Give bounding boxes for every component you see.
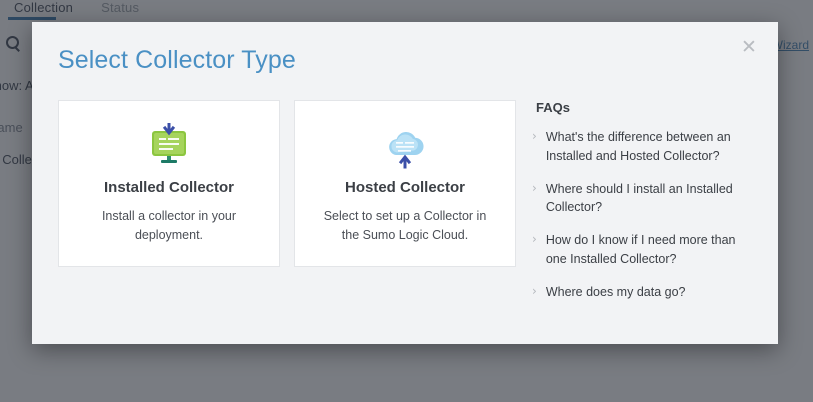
chevron-right-icon: › <box>532 128 537 166</box>
card-title: Installed Collector <box>104 179 234 196</box>
faq-item-label: Where does my data go? <box>546 283 686 302</box>
faq-item[interactable]: › Where does my data go? <box>532 283 758 302</box>
faq-item-label: How do I know if I need more than one In… <box>546 231 758 269</box>
faq-heading: FAQs <box>536 100 758 115</box>
faq-item-label: Where should I install an Installed Coll… <box>546 180 758 218</box>
faq-item[interactable]: › How do I know if I need more than one … <box>532 231 758 269</box>
card-description: Select to set up a Collector in the Sumo… <box>317 207 493 246</box>
faq-item[interactable]: › Where should I install an Installed Co… <box>532 180 758 218</box>
faq-item-label: What's the difference between an Install… <box>546 128 758 166</box>
chevron-right-icon: › <box>532 231 537 269</box>
chevron-right-icon: › <box>532 180 537 218</box>
card-hosted-collector[interactable]: Hosted Collector Select to set up a Coll… <box>294 100 516 267</box>
close-icon[interactable]: ✕ <box>736 34 762 60</box>
hosted-collector-cloud-icon <box>382 119 428 177</box>
card-description: Install a collector in your deployment. <box>81 207 257 246</box>
chevron-right-icon: › <box>532 283 537 302</box>
card-installed-collector[interactable]: Installed Collector Install a collector … <box>58 100 280 267</box>
installed-collector-monitor-icon <box>146 119 192 177</box>
faq-item[interactable]: › What's the difference between an Insta… <box>532 128 758 166</box>
dialog-title: Select Collector Type <box>58 46 296 75</box>
faq-section: FAQs › What's the difference between an … <box>532 100 758 315</box>
collector-type-cards: Installed Collector Install a collector … <box>58 100 516 267</box>
card-title: Hosted Collector <box>345 179 465 196</box>
select-collector-type-dialog: ✕ Select Collector Type <box>32 22 778 344</box>
